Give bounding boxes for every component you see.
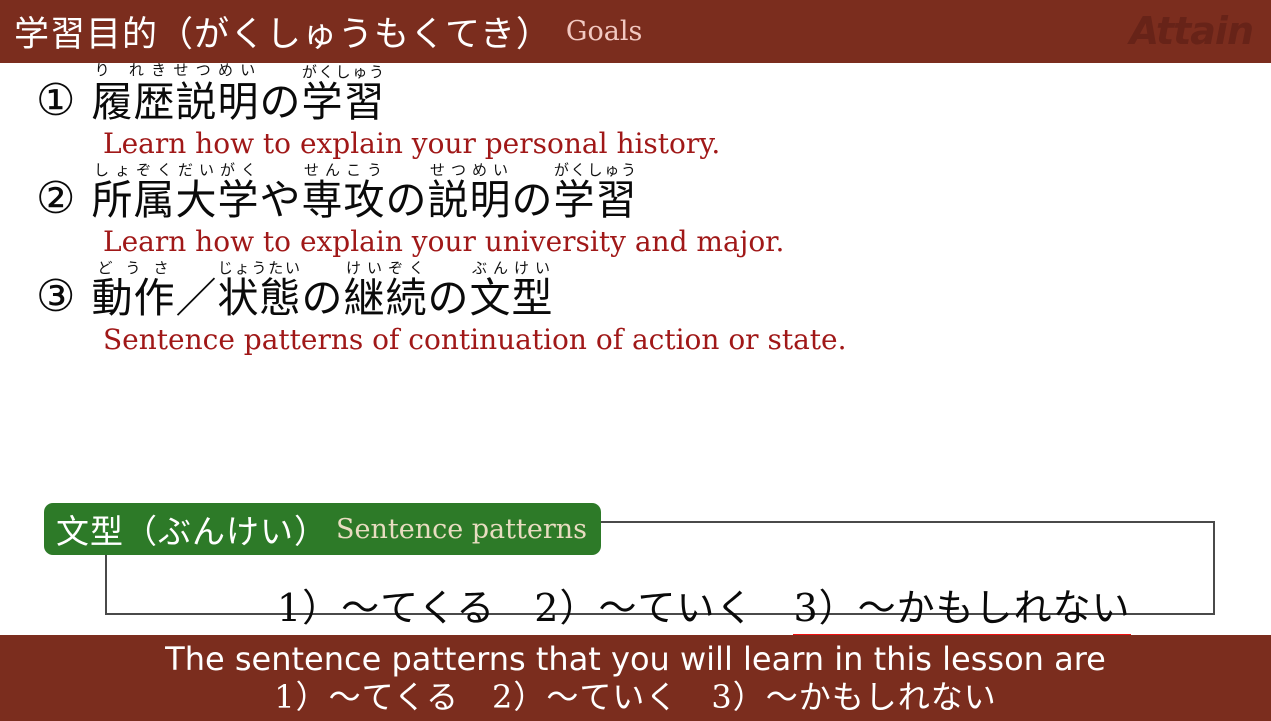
goal-english-translation: Sentence patterns of continuation of act… bbox=[0, 323, 1271, 357]
slide-header: 学習目的（がくしゅうもくてき） Goals Attain bbox=[0, 0, 1271, 63]
subtitle-bar: The sentence patterns that you will lear… bbox=[0, 635, 1271, 721]
sentence-patterns-banner: 文型（ぶんけい） Sentence patterns bbox=[44, 503, 601, 555]
page-title: 学習目的（がくしゅうもくてき） bbox=[14, 6, 552, 57]
subtitle-line-english: The sentence patterns that you will lear… bbox=[165, 640, 1106, 678]
goal-number: ① bbox=[36, 77, 75, 125]
subtitle-line-japanese: 1）〜てくる 2）〜ていく 3）〜かもしれない bbox=[274, 678, 996, 716]
ruby-segment: 文型ぶんけい bbox=[469, 259, 553, 321]
ruby-segment: 履歴説明り れきせつめい bbox=[91, 61, 259, 125]
goal-japanese-text: 所属大学しょぞくだいがくや専攻せんこうの説明せつめいの学習がくしゅう bbox=[91, 161, 637, 223]
ruby-segment: の bbox=[301, 275, 343, 321]
ruby-segment: 所属大学しょぞくだいがく bbox=[91, 161, 259, 223]
goal-japanese-line: ③ 動作どうさ／状態じょうたいの継続けいぞくの文型ぶんけい bbox=[0, 259, 1271, 321]
slide: 学習目的（がくしゅうもくてき） Goals Attain ① 履歴説明り れきせ… bbox=[0, 0, 1271, 721]
goals-list: ① 履歴説明り れきせつめいの学習がくしゅう Learn how to expl… bbox=[0, 63, 1271, 357]
ruby-segment: 継続けいぞく bbox=[343, 259, 427, 321]
ruby-segment: 動作どうさ bbox=[91, 259, 175, 321]
ruby-segment: 学習がくしゅう bbox=[301, 63, 385, 125]
goal-japanese-text: 履歴説明り れきせつめいの学習がくしゅう bbox=[91, 61, 385, 125]
goal-japanese-text: 動作どうさ／状態じょうたいの継続けいぞくの文型ぶんけい bbox=[91, 259, 553, 321]
ruby-segment: 説明せつめい bbox=[427, 161, 511, 223]
sentence-patterns-text: 1）〜てくる 2）〜ていく 3）〜かもしれない bbox=[277, 577, 1131, 632]
ruby-segment: の bbox=[511, 177, 553, 223]
goal-item-1: ① 履歴説明り れきせつめいの学習がくしゅう Learn how to expl… bbox=[0, 63, 1271, 161]
ruby-segment: の bbox=[259, 79, 301, 125]
goal-item-2: ② 所属大学しょぞくだいがくや専攻せんこうの説明せつめいの学習がくしゅう Lea… bbox=[0, 161, 1271, 259]
goal-item-3: ③ 動作どうさ／状態じょうたいの継続けいぞくの文型ぶんけい Sentence p… bbox=[0, 259, 1271, 357]
ruby-segment: 専攻せんこう bbox=[301, 161, 385, 223]
goal-english-translation: Learn how to explain your personal histo… bbox=[0, 127, 1271, 161]
ruby-segment: の bbox=[427, 275, 469, 321]
ruby-segment: ／ bbox=[175, 275, 217, 321]
banner-label-japanese: 文型（ぶんけい） bbox=[56, 505, 328, 553]
page-title-english: Goals bbox=[566, 16, 642, 47]
goal-japanese-line: ② 所属大学しょぞくだいがくや専攻せんこうの説明せつめいの学習がくしゅう bbox=[0, 161, 1271, 223]
ruby-segment: や bbox=[259, 177, 301, 223]
pattern-item-highlighted: 3）〜かもしれない bbox=[793, 586, 1130, 639]
attain-logo: Attain bbox=[1130, 9, 1253, 53]
goal-english-translation: Learn how to explain your university and… bbox=[0, 225, 1271, 259]
sentence-patterns-block: 1）〜てくる 2）〜ていく 3）〜かもしれない 文型（ぶんけい） Sentenc… bbox=[0, 503, 1271, 633]
goal-japanese-line: ① 履歴説明り れきせつめいの学習がくしゅう bbox=[0, 63, 1271, 125]
goal-number: ③ bbox=[36, 273, 75, 321]
goal-number: ② bbox=[36, 175, 75, 223]
banner-label-english: Sentence patterns bbox=[336, 514, 587, 545]
ruby-segment: 学習がくしゅう bbox=[553, 161, 637, 223]
pattern-items-leading: 1）〜てくる 2）〜ていく bbox=[277, 586, 793, 630]
ruby-segment: の bbox=[385, 177, 427, 223]
ruby-segment: 状態じょうたい bbox=[217, 259, 301, 321]
